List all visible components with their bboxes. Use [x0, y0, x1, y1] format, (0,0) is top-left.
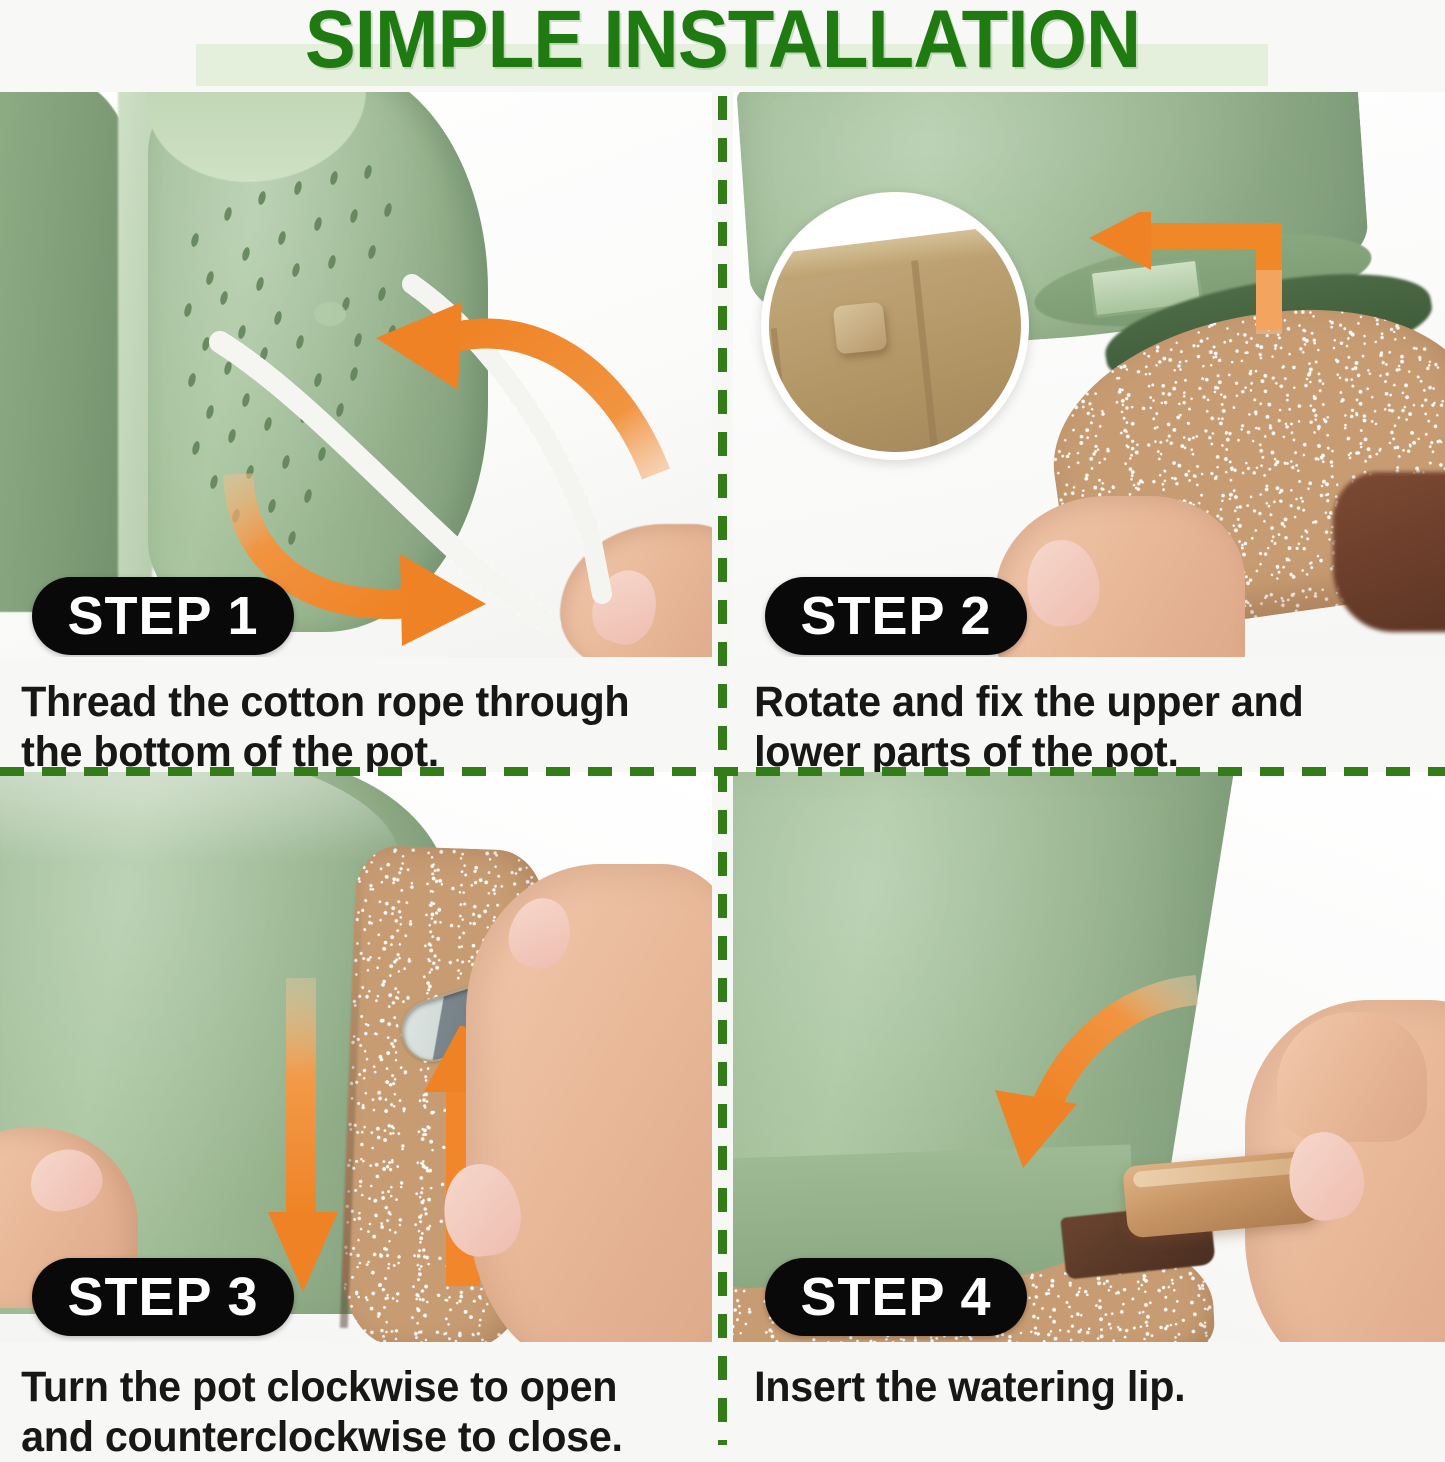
- step-card-4: STEP 4 Insert the watering lip.: [733, 772, 1445, 1412]
- title-bar: SIMPLE INSTALLATION: [0, 0, 1445, 92]
- step-1-photo: STEP 1: [0, 92, 712, 657]
- step-2-photo: STEP 2: [733, 92, 1445, 657]
- step-4-photo: STEP 4: [733, 772, 1445, 1342]
- step-3-caption: Turn the pot clockwise to open and count…: [0, 1342, 684, 1462]
- base-inner-shadow: [1333, 472, 1445, 632]
- step-card-3: STEP 3 Turn the pot clockwise to open an…: [0, 772, 712, 1462]
- step-3-photo: STEP 3: [0, 772, 712, 1342]
- arrow-bent-left-icon: [1073, 212, 1293, 342]
- step-2-caption: Rotate and fix the upper and lower parts…: [733, 657, 1417, 777]
- step-card-1: STEP 1 Thread the cotton rope through th…: [0, 92, 712, 777]
- step-badge-4: STEP 4: [765, 1258, 1027, 1336]
- index-finger: [1277, 1012, 1427, 1142]
- step-badge-3-label: STEP 3: [67, 1266, 258, 1328]
- page-title: SIMPLE INSTALLATION: [51, 0, 1395, 88]
- step-1-caption: Thread the cotton rope through the botto…: [0, 657, 684, 777]
- step-4-caption: Insert the watering lip.: [733, 1342, 1417, 1412]
- step-badge-2: STEP 2: [765, 577, 1027, 655]
- step-badge-3: STEP 3: [32, 1258, 294, 1336]
- step-badge-1-label: STEP 1: [67, 585, 258, 647]
- hand-right: [466, 864, 712, 1342]
- step-badge-2-label: STEP 2: [800, 585, 991, 647]
- inset-locking-nub: [833, 302, 888, 355]
- step-badge-4-label: STEP 4: [800, 1266, 991, 1328]
- zoom-inset-circle: [761, 192, 1029, 460]
- step-badge-1: STEP 1: [32, 577, 294, 655]
- step-card-2: STEP 2 Rotate and fix the upper and lowe…: [733, 92, 1445, 777]
- divider-horizontal: [0, 767, 1445, 776]
